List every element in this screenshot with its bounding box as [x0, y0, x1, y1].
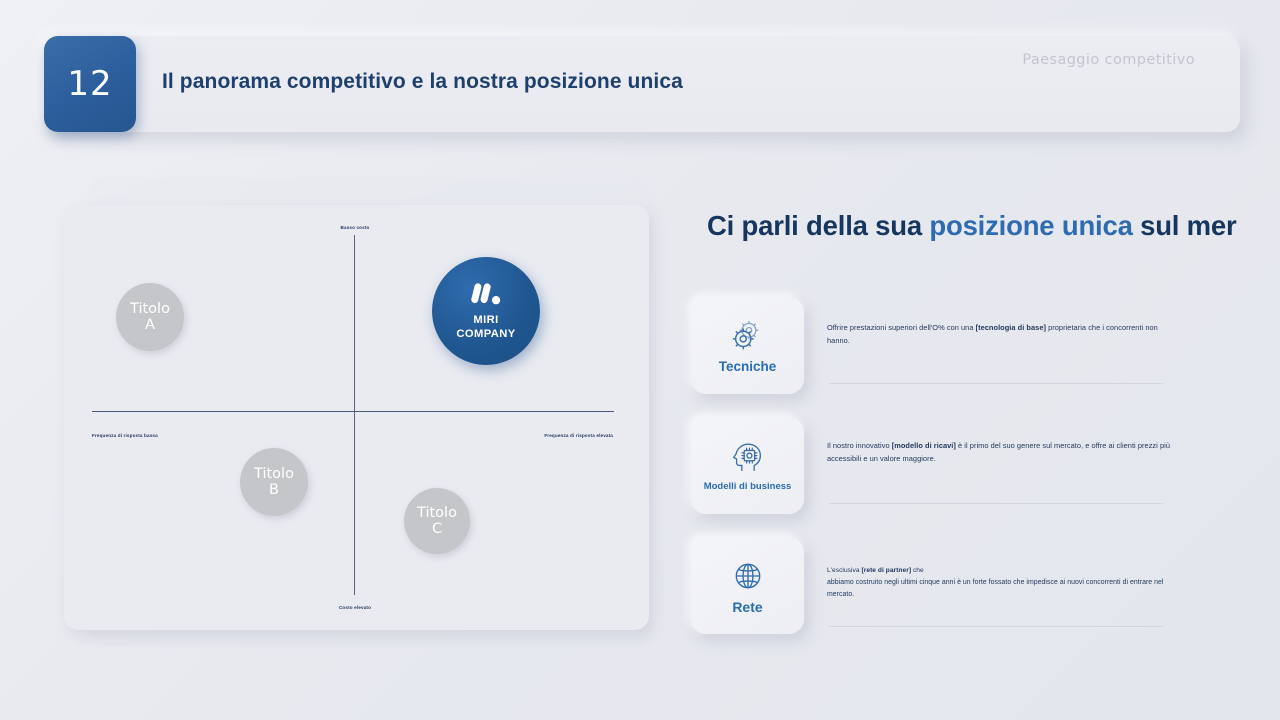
feature-label-modelli-di-business: Modelli di business	[704, 482, 792, 492]
bubble-a-line1: Titolo	[130, 301, 170, 317]
feature-text-tecniche: Offrire prestazioni superiori dell'O% co…	[827, 322, 1179, 348]
our-company-line1: MIRI	[473, 314, 498, 327]
heading-highlight: posizione unica	[929, 210, 1132, 241]
feature-card-rete[interactable]: Rete	[691, 537, 804, 634]
slide-number-text: 12	[67, 64, 112, 104]
head-chip-icon	[728, 438, 768, 478]
feature-card-modelli-di-business[interactable]: Modelli di business	[691, 417, 804, 514]
section-heading: Ci parli della sua posizione unica sul m…	[707, 210, 1237, 242]
competitor-bubble-c[interactable]: Titolo C	[404, 488, 470, 554]
feature-1-text-bold: [tecnologia di base]	[976, 323, 1046, 332]
gears-icon	[728, 316, 768, 356]
slide-number-badge: 12	[44, 36, 136, 132]
matrix-horizontal-axis	[92, 411, 614, 412]
feature-3-text-a: L'esclusiva	[827, 567, 861, 574]
feature-3-text-line2: abbiamo costruito negli ultimi cinque an…	[827, 577, 1179, 601]
feature-1-text-a: Offrire prestazioni superiori dell'O% co…	[827, 323, 976, 332]
competitor-bubble-b[interactable]: Titolo B	[240, 448, 308, 516]
feature-2-text-a: Il nostro innovativo	[827, 441, 892, 450]
bubble-c-line1: Titolo	[417, 505, 457, 521]
matrix-vertical-axis	[354, 235, 355, 595]
competitive-matrix-card: Basso costo Costo elevato Frequenza di r…	[64, 205, 649, 630]
axis-label-right: Frequenza di risposta elevata	[544, 433, 613, 438]
bubble-c-line2: C	[432, 521, 442, 537]
feature-divider-1	[829, 383, 1163, 384]
heading-part-1: Ci parli della sua	[707, 210, 929, 241]
feature-divider-3	[829, 626, 1163, 627]
feature-text-modelli-di-business: Il nostro innovativo [modello di ricavi]…	[827, 440, 1179, 466]
page-title: Il panorama competitivo e la nostra posi…	[162, 70, 683, 94]
feature-3-text-b: che	[911, 567, 924, 574]
our-company-line2: COMPANY	[456, 328, 515, 341]
axis-label-bottom: Costo elevato	[339, 605, 371, 610]
feature-2-text-bold: [modello di ricavi]	[892, 441, 956, 450]
header-kicker-label: Paesaggio competitivo	[1022, 52, 1195, 68]
feature-text-rete: L'esclusiva [rete di partner] che abbiam…	[827, 565, 1179, 601]
feature-3-text-bold: [rete di partner]	[861, 567, 911, 574]
axis-label-top: Basso costo	[341, 225, 370, 230]
competitor-bubble-a[interactable]: Titolo A	[116, 283, 184, 351]
bubble-b-line1: Titolo	[254, 466, 294, 482]
miri-m-logo-icon	[469, 281, 503, 307]
axis-label-left: Frequenza di risposta bassa	[92, 433, 158, 438]
feature-label-tecniche: Tecniche	[719, 360, 777, 375]
feature-label-rete: Rete	[732, 600, 762, 615]
globe-icon	[728, 556, 768, 596]
bubble-b-line2: B	[269, 482, 279, 498]
feature-divider-2	[829, 503, 1163, 504]
bubble-a-line2: A	[145, 317, 155, 333]
feature-card-tecniche[interactable]: Tecniche	[691, 297, 804, 394]
our-company-bubble[interactable]: MIRI COMPANY	[432, 257, 540, 365]
heading-part-2: sul mer	[1133, 210, 1237, 241]
